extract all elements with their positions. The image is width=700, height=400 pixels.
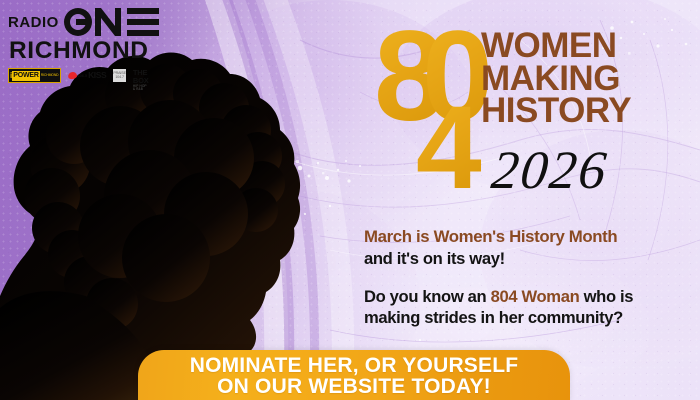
page-title: WOMEN MAKING HISTORY [481, 30, 631, 128]
radio-one-richmond-logo: RADIO RICHMOND i POWER RICHMOND [8, 6, 148, 83]
copy-line-3-highlight: 804 Woman [491, 287, 580, 306]
station-logo-ipower: i POWER RICHMOND [8, 68, 61, 83]
copy-line-2: and it's on its way! [364, 248, 690, 269]
radio-wordmark: RADIO [8, 15, 59, 30]
station-logo-the-box: THE BOX HIP HOP & R&B [133, 69, 149, 82]
one-logo-mark [63, 7, 161, 37]
station-logos-row: i POWER RICHMOND 106.5 KISS PRAISE 104.7… [8, 69, 148, 83]
area-code-804-graphic: 8 0 4 [372, 4, 492, 189]
copy-line-3-before: Do you know an [364, 287, 491, 306]
year-2026-script: 2026 [489, 140, 664, 202]
copy-line-4: making strides in her community? [364, 307, 690, 328]
woman-profile-silhouette [0, 46, 350, 400]
copy-line-3: Do you know an 804 Woman who is [364, 286, 690, 307]
cta-line-1: NOMINATE HER, OR YOURSELF [190, 355, 519, 376]
station-logo-praise: PRAISE 104.7 [113, 69, 126, 82]
lips-icon [67, 71, 77, 80]
station-logo-kiss: 106.5 KISS [68, 69, 107, 82]
copy-line-1: March is Women's History Month [364, 226, 690, 248]
body-copy: March is Women's History Month and it's … [364, 226, 690, 328]
nominate-cta-banner[interactable]: NOMINATE HER, OR YOURSELF ON OUR WEBSITE… [138, 350, 570, 400]
headline-line-3: HISTORY [481, 95, 631, 128]
digit-4: 4 [416, 82, 482, 189]
richmond-wordmark: RICHMOND [9, 39, 148, 64]
year-text: 2026 [489, 140, 611, 200]
copy-line-3-after: who is [579, 287, 633, 306]
headline-line-1: WOMEN [481, 30, 631, 63]
cta-line-2: ON OUR WEBSITE TODAY! [217, 376, 491, 397]
promo-poster: RADIO RICHMOND i POWER RICHMOND [0, 0, 700, 400]
